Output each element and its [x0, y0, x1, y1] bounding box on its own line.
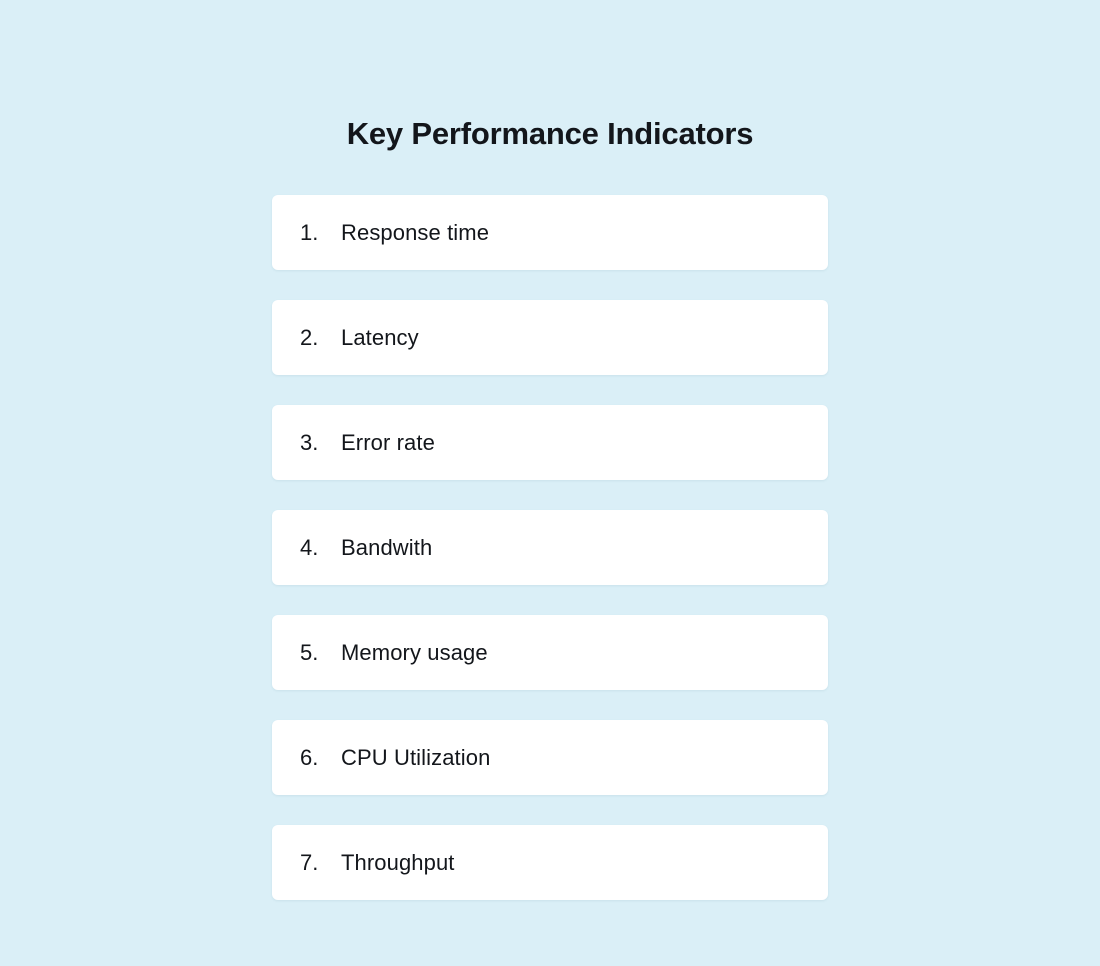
list-item-number: 1. [300, 219, 341, 247]
list-item[interactable]: 3. Error rate [272, 405, 828, 480]
list-item[interactable]: 7. Throughput [272, 825, 828, 900]
list-item-number: 5. [300, 639, 341, 667]
kpi-page: Key Performance Indicators 1. Response t… [0, 0, 1100, 966]
list-item-number: 4. [300, 534, 341, 562]
list-item[interactable]: 2. Latency [272, 300, 828, 375]
list-item-number: 2. [300, 324, 341, 352]
list-item-label: Throughput [341, 849, 455, 877]
list-item-label: Response time [341, 219, 489, 247]
list-item-number: 3. [300, 429, 341, 457]
list-item-label: Bandwith [341, 534, 432, 562]
list-item-number: 7. [300, 849, 341, 877]
list-item[interactable]: 1. Response time [272, 195, 828, 270]
list-item[interactable]: 6. CPU Utilization [272, 720, 828, 795]
kpi-list: 1. Response time 2. Latency 3. Error rat… [272, 195, 828, 900]
list-item-label: CPU Utilization [341, 744, 490, 772]
list-item-label: Error rate [341, 429, 435, 457]
list-item-label: Latency [341, 324, 419, 352]
page-title: Key Performance Indicators [0, 114, 1100, 154]
list-item-label: Memory usage [341, 639, 488, 667]
list-item-number: 6. [300, 744, 341, 772]
list-item[interactable]: 4. Bandwith [272, 510, 828, 585]
list-item[interactable]: 5. Memory usage [272, 615, 828, 690]
